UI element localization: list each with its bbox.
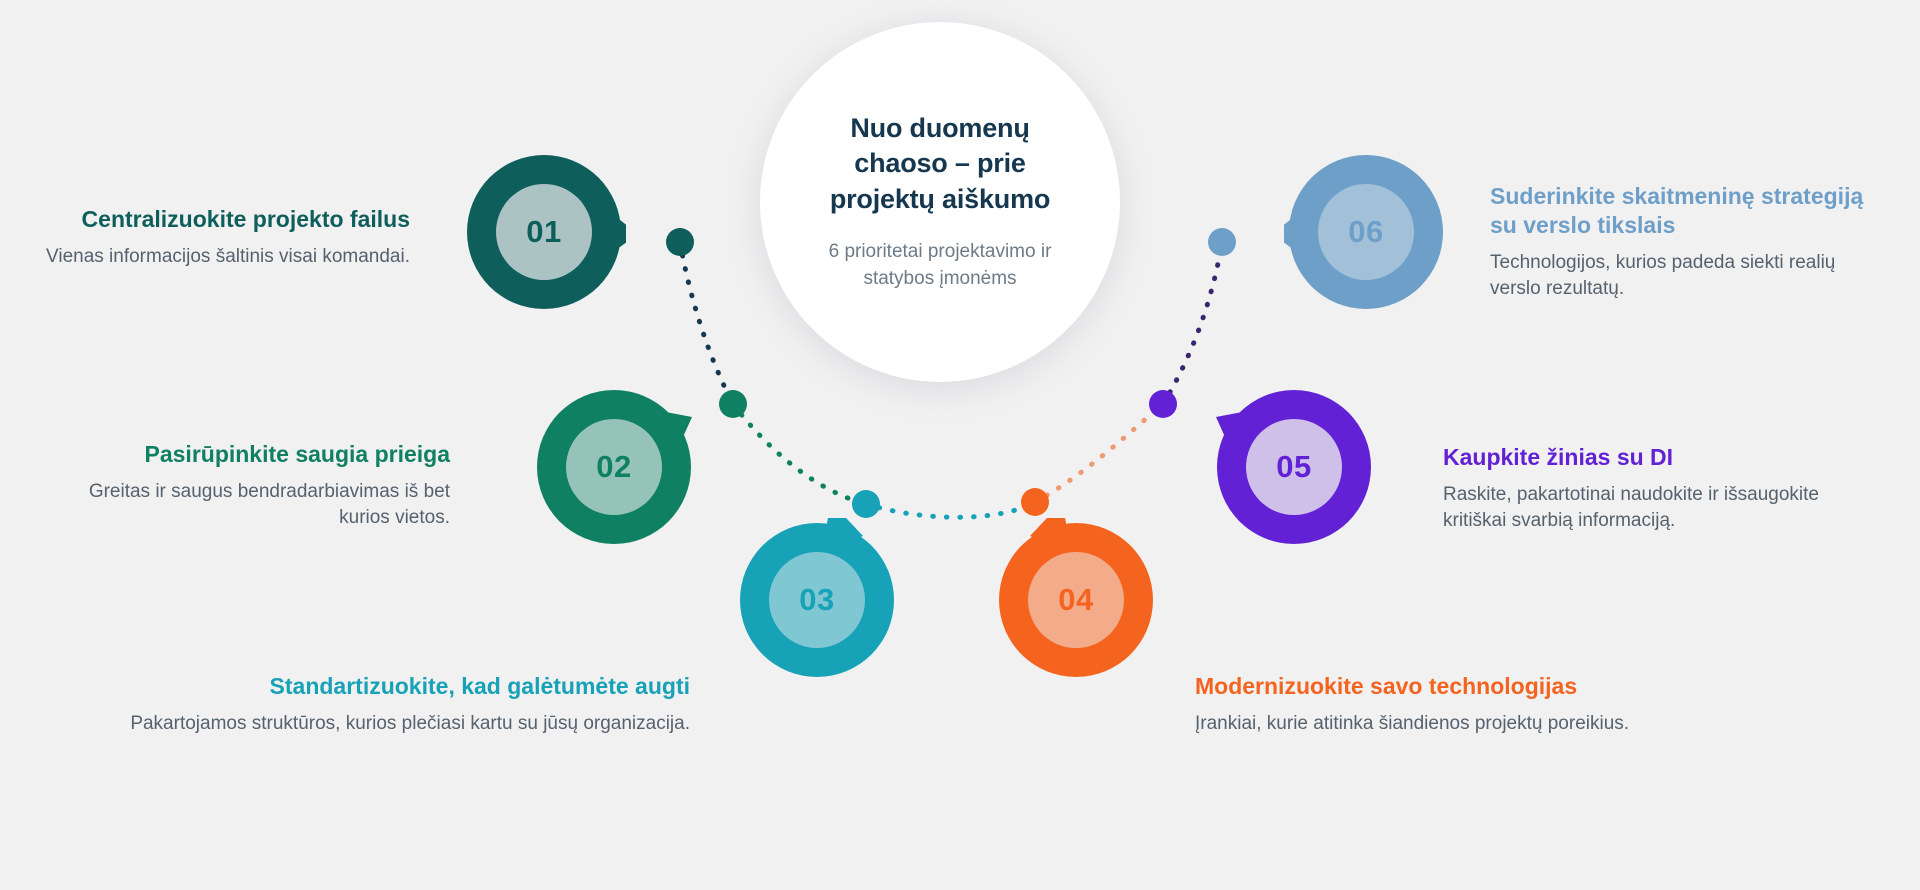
- connector-segment-5: [1163, 242, 1222, 404]
- hub-circle: Nuo duomenų chaoso – prie projektų aišku…: [760, 22, 1120, 382]
- marker-number-01: 01: [462, 150, 626, 314]
- item-block-03: Standartizuokite, kad galėtumėte augti P…: [110, 672, 690, 737]
- item-block-01: Centralizuokite projekto failus Vienas i…: [10, 205, 410, 270]
- item-description-02: Greitas ir saugus bendradarbiavimas iš b…: [60, 479, 450, 531]
- item-description-01: Vienas informacijos šaltinis visai koman…: [10, 244, 410, 270]
- marker-number-04: 04: [994, 518, 1158, 682]
- marker-number-02: 02: [532, 385, 696, 549]
- marker-01[interactable]: 01: [462, 150, 626, 314]
- marker-number-05: 05: [1212, 385, 1376, 549]
- item-description-05: Raskite, pakartotinai naudokite ir išsau…: [1443, 482, 1873, 534]
- marker-04[interactable]: 04: [994, 518, 1158, 682]
- item-title-03: Standartizuokite, kad galėtumėte augti: [110, 672, 690, 701]
- marker-number-06: 06: [1284, 150, 1448, 314]
- item-description-06: Technologijos, kurios padeda siekti real…: [1490, 250, 1890, 302]
- item-title-05: Kaupkite žinias su DI: [1443, 443, 1873, 472]
- item-block-04: Modernizuokite savo technologijas Įranki…: [1195, 672, 1715, 737]
- item-block-02: Pasirūpinkite saugia prieiga Greitas ir …: [60, 440, 450, 531]
- connector-node-1: [666, 228, 694, 256]
- connector-node-5: [1149, 390, 1177, 418]
- infographic-canvas: Nuo duomenų chaoso – prie projektų aišku…: [0, 0, 1920, 890]
- item-description-04: Įrankiai, kurie atitinka šiandienos proj…: [1195, 711, 1715, 737]
- connector-segment-4: [1035, 404, 1163, 502]
- connector-segment-2: [733, 404, 866, 504]
- item-title-04: Modernizuokite savo technologijas: [1195, 672, 1715, 701]
- item-description-03: Pakartojamos struktūros, kurios plečiasi…: [110, 711, 690, 737]
- connector-node-6: [1208, 228, 1236, 256]
- connector-node-4: [1021, 488, 1049, 516]
- item-block-06: Suderinkite skaitmeninę strategiją su ve…: [1490, 182, 1890, 302]
- hub-subtitle: 6 prioritetai projektavimo ir statybos į…: [810, 239, 1070, 293]
- marker-06[interactable]: 06: [1284, 150, 1448, 314]
- item-title-02: Pasirūpinkite saugia prieiga: [60, 440, 450, 469]
- item-title-06: Suderinkite skaitmeninę strategiją su ve…: [1490, 182, 1890, 240]
- connector-segment-3: [866, 502, 1035, 517]
- marker-05[interactable]: 05: [1212, 385, 1376, 549]
- marker-03[interactable]: 03: [735, 518, 899, 682]
- marker-02[interactable]: 02: [532, 385, 696, 549]
- item-title-01: Centralizuokite projekto failus: [10, 205, 410, 234]
- item-block-05: Kaupkite žinias su DI Raskite, pakartoti…: [1443, 443, 1873, 534]
- hub-title: Nuo duomenų chaoso – prie projektų aišku…: [815, 111, 1065, 216]
- connector-segment-1: [680, 242, 733, 404]
- connector-node-2: [719, 390, 747, 418]
- connector-node-3: [852, 490, 880, 518]
- marker-number-03: 03: [735, 518, 899, 682]
